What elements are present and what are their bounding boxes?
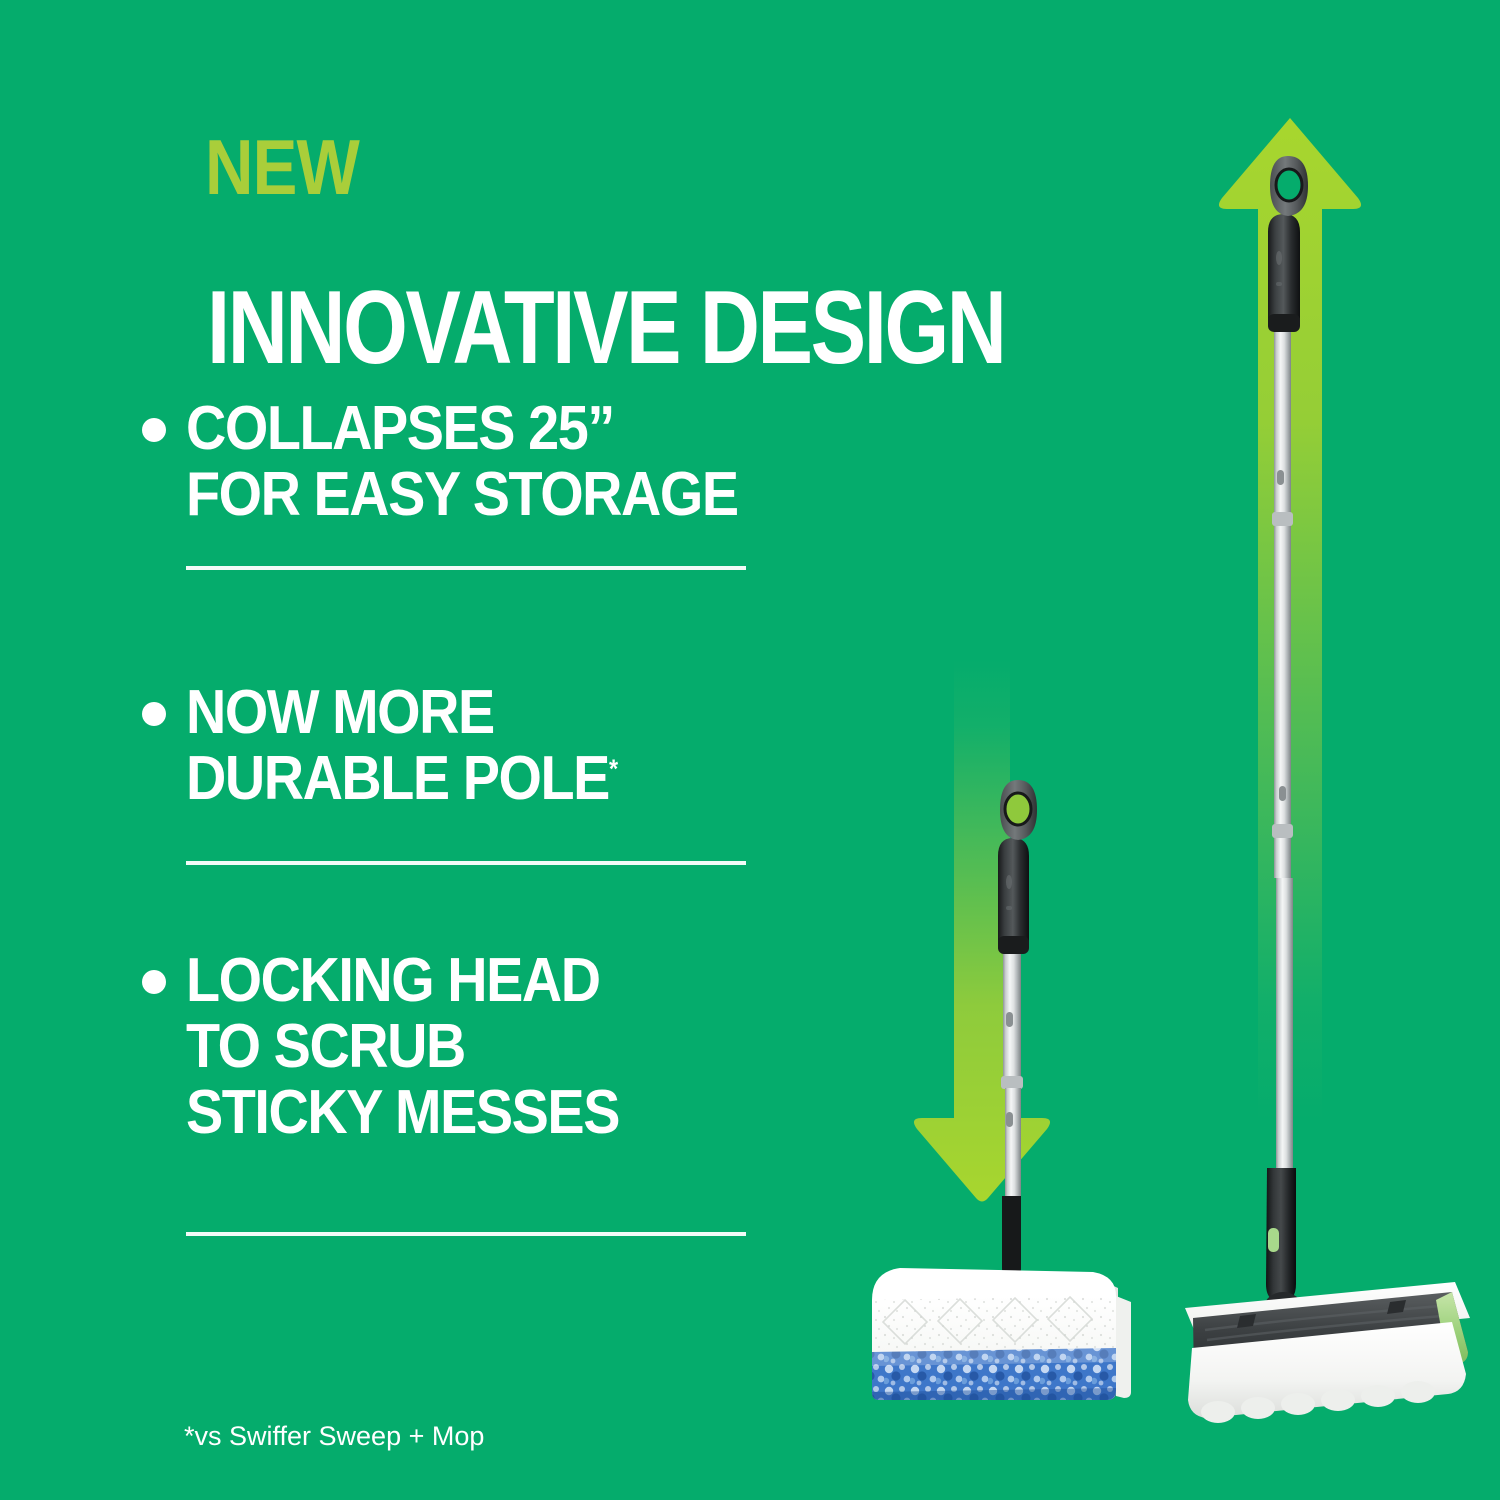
- product-feature-callout: NEW INNOVATIVE DESIGN COLLAPSES 25” FOR …: [0, 0, 1500, 1500]
- page-title: INNOVATIVE DESIGN: [207, 276, 1004, 380]
- list-item: NOW MOREDURABLE POLE*: [142, 680, 882, 812]
- bullet-text-collapses: COLLAPSES 25” FOR EASY STORAGE: [186, 396, 738, 528]
- bullet-dot-icon: [142, 418, 166, 442]
- footnote-marker: *: [609, 753, 617, 783]
- footnote-text: *vs Swiffer Sweep + Mop: [184, 1421, 484, 1451]
- copy-block: NEW INNOVATIVE DESIGN COLLAPSES 25” FOR …: [0, 0, 900, 1500]
- bullet-line-2: DURABLE POLE: [186, 744, 609, 813]
- wet-mop-pad: [872, 1268, 1131, 1400]
- list-item: COLLAPSES 25” FOR EASY STORAGE: [142, 396, 882, 528]
- bullet-line-1: NOW MORE: [186, 678, 494, 747]
- bullet-dot-icon: [142, 970, 166, 994]
- sweeper-head: [1185, 1282, 1470, 1423]
- down-arrow-icon: [914, 660, 1050, 1202]
- eyebrow-new: NEW: [205, 128, 359, 206]
- collapsed-mop-group: [872, 660, 1131, 1400]
- collapsed-handle: [998, 780, 1037, 954]
- divider: [186, 861, 746, 865]
- lock-button: [1268, 1228, 1279, 1252]
- list-item: LOCKING HEAD TO SCRUB STICKY MESSES: [142, 948, 882, 1146]
- divider: [186, 566, 746, 570]
- extended-sweeper-group: [1185, 118, 1470, 1423]
- collapsed-neck: [1002, 1196, 1021, 1278]
- bullet-text-locking-head: LOCKING HEAD TO SCRUB STICKY MESSES: [186, 948, 619, 1146]
- bullet-text-durable-pole: NOW MOREDURABLE POLE*: [186, 680, 617, 812]
- divider: [186, 1232, 746, 1236]
- bullet-dot-icon: [142, 702, 166, 726]
